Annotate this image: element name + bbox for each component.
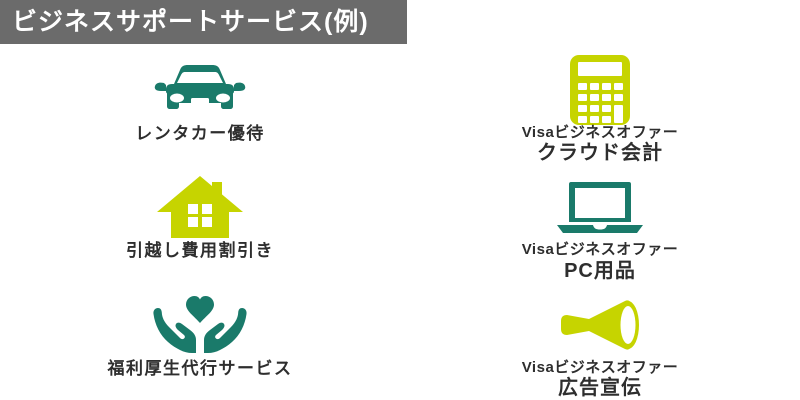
service-item-welfare-service[interactable]: 福利厚生代行サービス	[0, 283, 400, 400]
service-label-line1: レンタカー優待	[135, 124, 265, 144]
service-item-labels: レンタカー優待	[135, 124, 265, 144]
service-label-line1: 福利厚生代行サービス	[108, 359, 293, 379]
service-item-labels: Visaビジネスオファー PC用品	[522, 241, 679, 282]
service-item-labels: 福利厚生代行サービス	[108, 359, 293, 379]
service-label-line1: Visaビジネスオファー	[522, 124, 679, 141]
hands-heart-icon	[152, 297, 248, 353]
service-item-pc-supplies[interactable]: Visaビジネスオファー PC用品	[400, 165, 800, 282]
service-item-rental-car[interactable]: レンタカー優待	[0, 48, 400, 165]
service-item-labels: Visaビジネスオファー クラウド会計	[522, 124, 679, 165]
service-label-line2: クラウド会計	[522, 141, 679, 165]
service-item-cloud-accounting[interactable]: Visaビジネスオファー クラウド会計	[400, 48, 800, 165]
service-label-line1: Visaビジネスオファー	[522, 241, 679, 258]
page-title-banner: ビジネスサポートサービス(例)	[0, 0, 407, 44]
service-item-labels: Visaビジネスオファー 広告宣伝	[522, 359, 679, 400]
service-item-moving-discount[interactable]: 引越し費用割引き	[0, 165, 400, 282]
service-label-line2: 広告宣伝	[522, 376, 679, 400]
house-icon	[157, 179, 243, 235]
service-label-line1: Visaビジネスオファー	[522, 359, 679, 376]
service-label-line2: PC用品	[522, 259, 679, 283]
services-grid: レンタカー優待	[0, 48, 800, 400]
laptop-icon	[557, 179, 643, 235]
service-item-advertising[interactable]: Visaビジネスオファー 広告宣伝	[400, 283, 800, 400]
page-title: ビジネスサポートサービス(例)	[0, 10, 369, 35]
car-icon	[154, 62, 246, 118]
service-label-line1: 引越し費用割引き	[126, 241, 274, 261]
megaphone-icon	[559, 297, 641, 353]
service-item-labels: 引越し費用割引き	[126, 241, 274, 261]
calculator-icon	[570, 62, 630, 118]
